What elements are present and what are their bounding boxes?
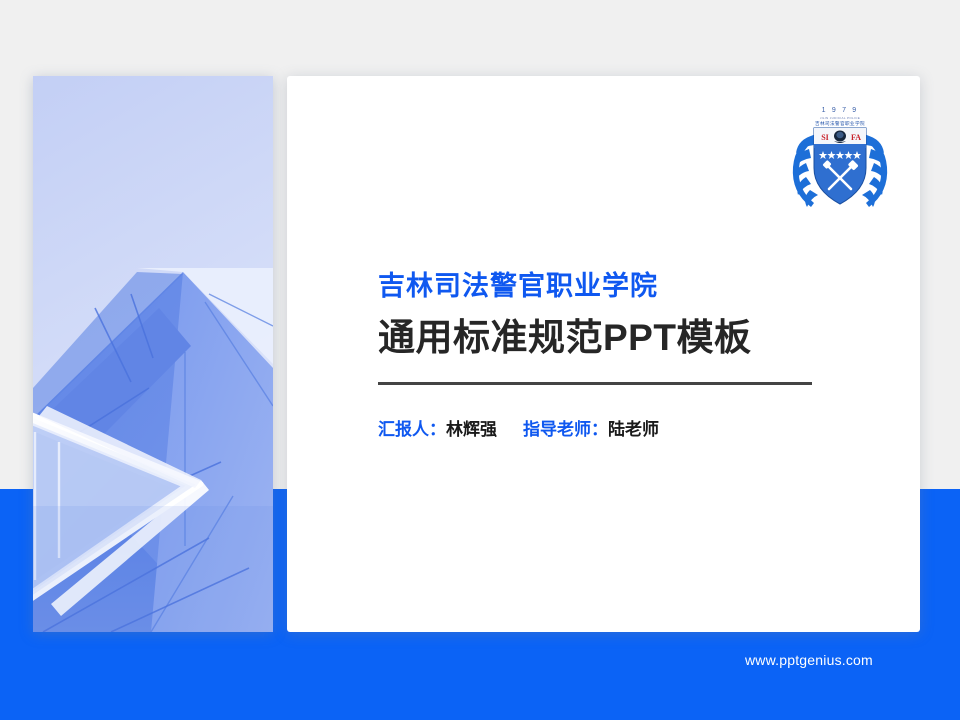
emblem-badge-left-text: SI: [821, 133, 829, 142]
title-divider: [378, 382, 812, 385]
emblem-pinyin-text: JILIN JUDICIAL POLICE: [820, 116, 860, 120]
advisor-label: 指导老师：: [523, 420, 608, 439]
emblem-blue-strip: [814, 144, 866, 148]
emblem-year-text: 1 9 7 9: [822, 107, 859, 114]
emblem-badge-right-text: FA: [851, 133, 861, 142]
cover-photo-panel: [33, 76, 273, 632]
slide-canvas: 1 9 7 9 JILIN JUDICIAL POLICE 吉林司法警官职业学院: [0, 0, 960, 720]
footer-website-url: www.pptgenius.com: [745, 652, 873, 668]
advisor-name: 陆老师: [608, 420, 659, 439]
emblem-icon: 1 9 7 9 JILIN JUDICIAL POLICE 吉林司法警官职业学院: [789, 99, 891, 209]
college-emblem: 1 9 7 9 JILIN JUDICIAL POLICE 吉林司法警官职业学院: [789, 99, 891, 209]
page-title: 通用标准规范PPT模板: [378, 314, 878, 362]
emblem-ring-text: 吉林司法警官职业学院: [815, 120, 865, 127]
title-text-block: 吉林司法警官职业学院 通用标准规范PPT模板 汇报人：林辉强指导老师：陆老师: [378, 270, 878, 440]
blue-architecture-photo: [33, 76, 273, 632]
school-name: 吉林司法警官职业学院: [378, 270, 878, 304]
presenter-row: 汇报人：林辉强指导老师：陆老师: [378, 415, 878, 440]
presenter-name: 林辉强: [446, 420, 497, 439]
content-card: 1 9 7 9 JILIN JUDICIAL POLICE 吉林司法警官职业学院: [287, 76, 920, 632]
presenter-label: 汇报人：: [378, 420, 446, 439]
